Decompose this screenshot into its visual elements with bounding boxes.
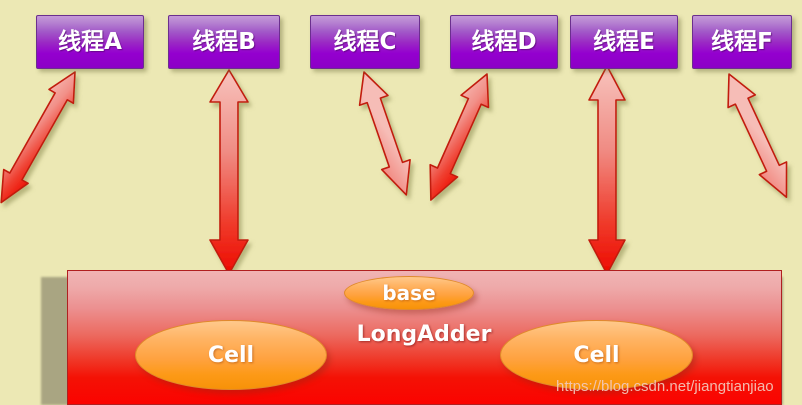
cell-label-left: Cell — [208, 343, 254, 368]
thread-label-f: 线程F — [711, 31, 773, 54]
thread-box-d[interactable]: 线程D — [450, 15, 558, 69]
thread-label-d: 线程D — [471, 31, 536, 54]
thread-box-c[interactable]: 线程C — [310, 15, 420, 69]
watermark-text: https://blog.csdn.net/jiangtianjiao — [556, 378, 774, 395]
arrow-thread-d — [417, 68, 501, 206]
thread-label-b: 线程B — [192, 31, 256, 54]
base-ellipse[interactable]: base — [344, 276, 474, 310]
cell-ellipse-left[interactable]: Cell — [135, 320, 327, 390]
thread-box-f[interactable]: 线程F — [692, 15, 792, 69]
thread-box-b[interactable]: 线程B — [168, 15, 280, 69]
thread-box-a[interactable]: 线程A — [36, 15, 144, 69]
arrow-thread-c — [350, 67, 421, 200]
base-label: base — [382, 281, 435, 305]
thread-box-e[interactable]: 线程E — [570, 15, 678, 69]
longadder-title: LongAdder — [344, 322, 504, 347]
arrow-thread-a — [0, 65, 87, 209]
arrow-thread-b — [210, 70, 248, 274]
cell-label-right: Cell — [573, 343, 619, 368]
thread-label-a: 线程A — [58, 31, 122, 54]
thread-label-c: 线程C — [334, 31, 397, 54]
arrow-thread-e — [589, 66, 625, 274]
diagram-canvas: 线程A 线程B 线程C 线程D 线程E 线程F LongAdder base C… — [0, 0, 802, 405]
arrow-thread-f — [715, 68, 800, 204]
thread-label-e: 线程E — [593, 31, 655, 54]
